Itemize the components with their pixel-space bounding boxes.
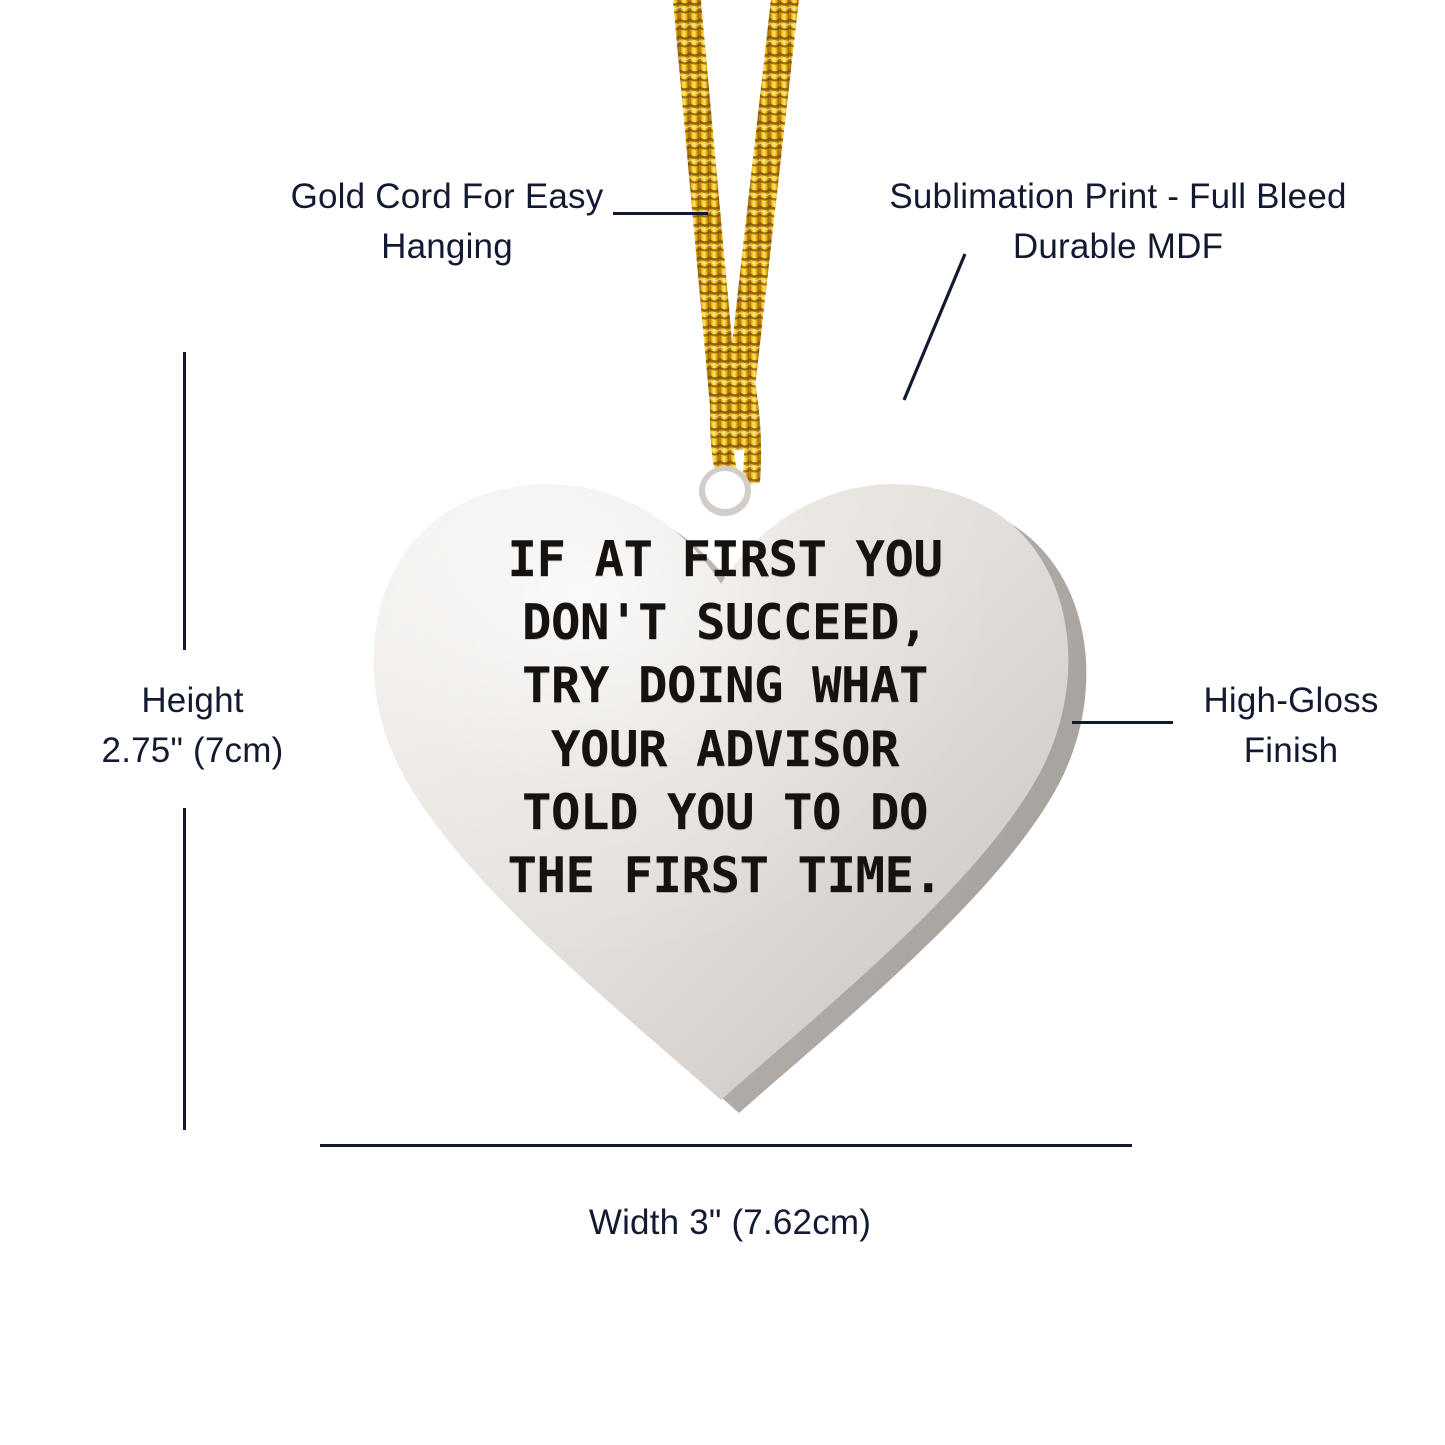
product-infographic: IF AT FIRST YOU DON'T SUCCEED, TRY DOING…	[0, 0, 1445, 1445]
dimension-line-width	[320, 1144, 1132, 1147]
dimension-label-height: Height 2.75" (7cm)	[60, 676, 325, 775]
dimension-line-height-lower	[183, 808, 186, 1130]
leader-line-high-gloss	[1072, 721, 1173, 724]
leader-line-sublimation	[895, 250, 975, 405]
hanging-hole	[699, 466, 751, 516]
ornament-quote-text: IF AT FIRST YOU DON'T SUCCEED, TRY DOING…	[455, 528, 995, 907]
annotation-high-gloss: High-Gloss Finish	[1176, 676, 1406, 775]
dimension-label-width: Width 3" (7.62cm)	[430, 1198, 1030, 1248]
annotation-gold-cord: Gold Cord For Easy Hanging	[232, 172, 662, 271]
annotation-sublimation-print: Sublimation Print - Full Bleed Durable M…	[848, 172, 1388, 271]
dimension-line-height-upper	[183, 352, 186, 650]
